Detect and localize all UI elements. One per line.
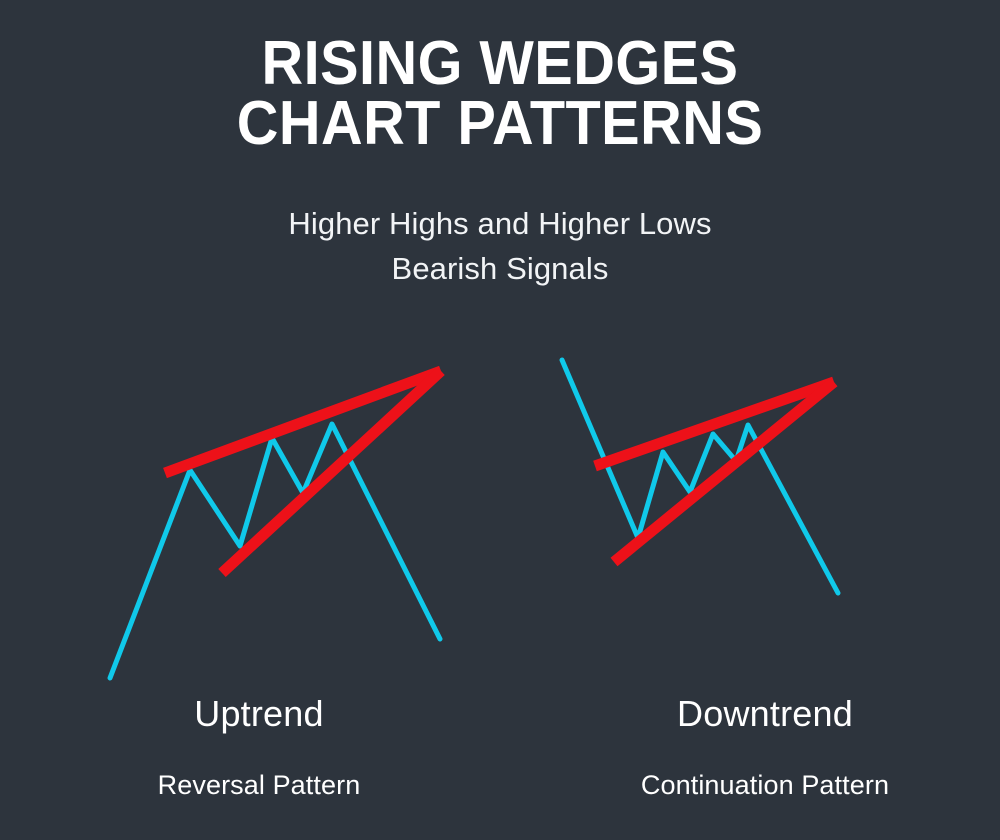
caption-title-downtrend: Downtrend <box>500 694 1000 734</box>
caption-downtrend: Downtrend Continuation Pattern <box>500 694 1000 801</box>
header: RISING WEDGES CHART PATTERNS Higher High… <box>0 0 1000 292</box>
chart-panel-downtrend <box>562 360 838 593</box>
price-line-uptrend <box>110 424 440 678</box>
infographic-root: RISING WEDGES CHART PATTERNS Higher High… <box>0 0 1000 840</box>
page-subtitle: Higher Highs and Higher Lows Bearish Sig… <box>0 154 1000 292</box>
page-title: RISING WEDGES CHART PATTERNS <box>35 0 965 154</box>
captions-row: Uptrend Reversal Pattern Downtrend Conti… <box>0 694 1000 801</box>
chart-panel-uptrend <box>110 371 441 678</box>
upper-trendline-downtrend <box>595 382 834 466</box>
lower-trendline-downtrend <box>614 382 834 562</box>
rising-wedge-svg <box>0 340 1000 700</box>
pattern-diagram <box>0 340 1000 700</box>
caption-subtitle-downtrend: Continuation Pattern <box>500 734 1000 801</box>
upper-trendline-uptrend <box>165 371 441 473</box>
caption-title-uptrend: Uptrend <box>0 694 500 734</box>
lower-trendline-uptrend <box>222 371 441 573</box>
caption-subtitle-uptrend: Reversal Pattern <box>0 734 500 801</box>
caption-uptrend: Uptrend Reversal Pattern <box>0 694 500 801</box>
